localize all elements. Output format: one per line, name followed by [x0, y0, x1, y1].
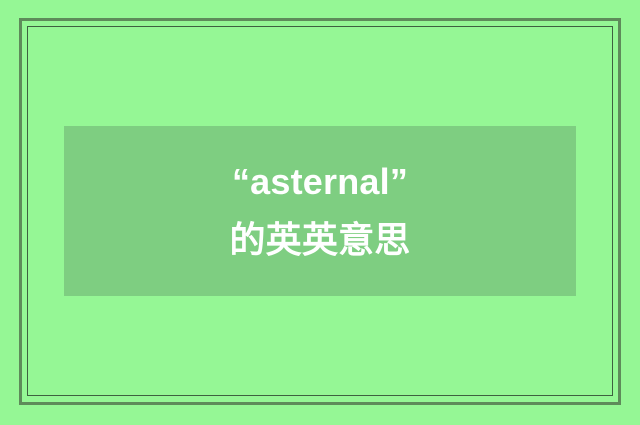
page-title: “asternal” 的英英意思: [220, 153, 420, 269]
page-canvas: “asternal” 的英英意思: [0, 0, 640, 425]
title-card: “asternal” 的英英意思: [64, 126, 576, 296]
